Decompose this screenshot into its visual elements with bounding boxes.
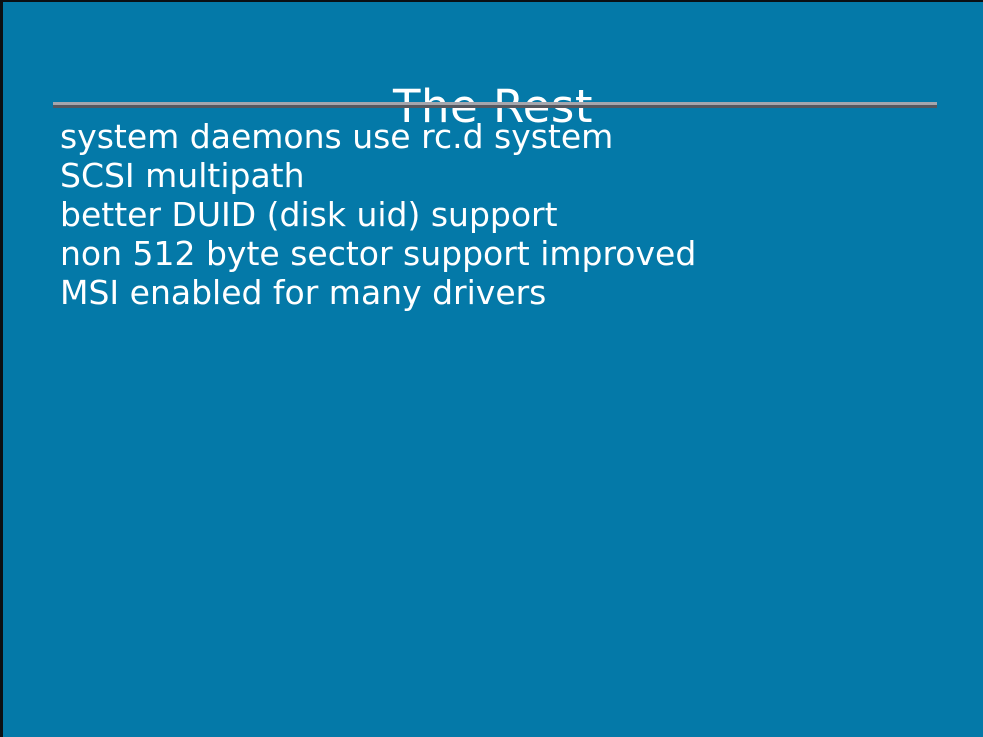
list-item: non 512 byte sector support improved <box>60 234 943 273</box>
list-item: MSI enabled for many drivers <box>60 273 943 312</box>
title-divider-shadow <box>53 105 937 108</box>
slide-bullet-list: system daemons use rc.d system SCSI mult… <box>60 117 943 312</box>
title-divider <box>53 102 937 108</box>
list-item: system daemons use rc.d system <box>60 117 943 156</box>
list-item: SCSI multipath <box>60 156 943 195</box>
list-item: better DUID (disk uid) support <box>60 195 943 234</box>
presentation-slide: The Rest system daemons use rc.d system … <box>0 0 983 737</box>
